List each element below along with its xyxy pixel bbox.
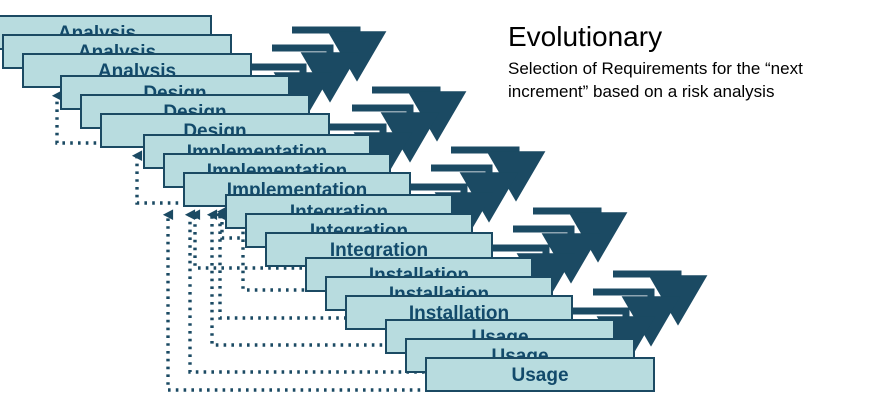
- evolutionary-waterfall-diagram: AnalysisAnalysisAnalysisDesignDesignDesi…: [0, 0, 881, 407]
- title-block: Evolutionary Selection of Requirements f…: [508, 20, 878, 103]
- stage-box-usage-front: Usage: [425, 357, 655, 392]
- subtitle-line-2: increment” based on a risk analysis: [508, 80, 878, 103]
- page-title: Evolutionary: [508, 20, 878, 54]
- subtitle-line-1: Selection of Requirements for the “next: [508, 57, 878, 80]
